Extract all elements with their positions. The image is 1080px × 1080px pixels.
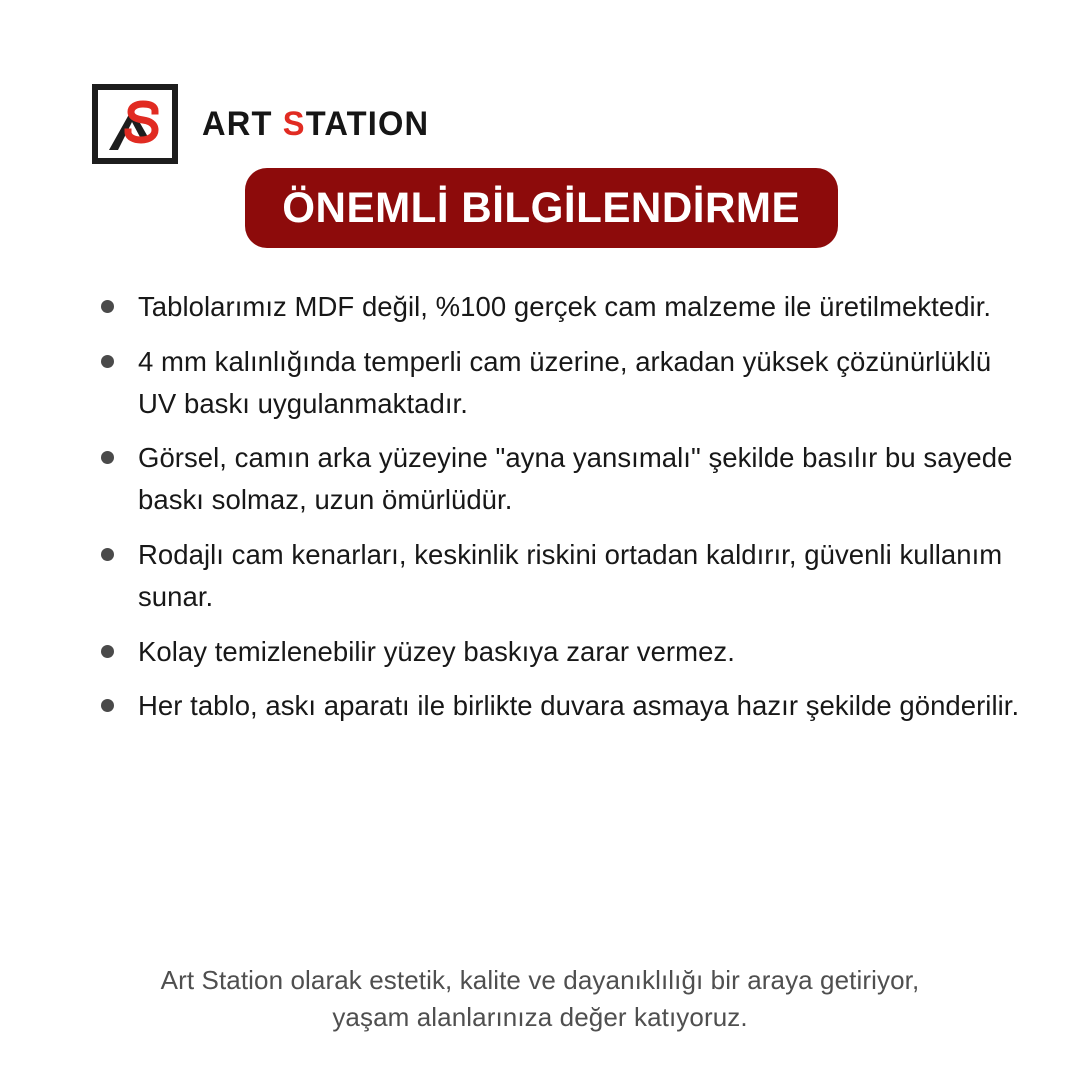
as-monogram-icon [92,84,178,164]
list-item: Her tablo, askı aparatı ile birlikte duv… [96,685,1036,727]
list-item: Rodajlı cam kenarları, keskinlik riskini… [96,534,1036,618]
list-item: Görsel, camın arka yüzeyine "ayna yansım… [96,437,1036,521]
list-item: Kolay temizlenebilir yüzey baskıya zarar… [96,631,1036,673]
list-item: 4 mm kalınlığında temperli cam üzerine, … [96,341,1036,425]
bullet-dot-icon [101,548,114,561]
list-item-text: 4 mm kalınlığında temperli cam üzerine, … [138,341,1036,425]
list-item-text: Tablolarımız MDF değil, %100 gerçek cam … [138,286,1036,328]
list-item-text: Kolay temizlenebilir yüzey baskıya zarar… [138,631,1036,673]
list-item-text: Görsel, camın arka yüzeyine "ayna yansım… [138,437,1036,521]
footer-line-1: Art Station olarak estetik, kalite ve da… [0,962,1080,999]
brand-wordmark: ART STATION [202,107,429,141]
bullet-dot-icon [101,355,114,368]
list-item: Tablolarımız MDF değil, %100 gerçek cam … [96,286,1036,328]
list-item-text: Her tablo, askı aparatı ile birlikte duv… [138,685,1036,727]
info-card-page: ART STATION ÖNEMLİ BİLGİLENDİRME Tablola… [0,0,1080,1080]
info-bullet-list: Tablolarımız MDF değil, %100 gerçek cam … [96,286,1036,740]
bullet-dot-icon [101,699,114,712]
wordmark-accent-s: S [283,105,306,143]
banner-title: ÖNEMLİ BİLGİLENDİRME [283,187,801,230]
wordmark-tation: TATION [306,105,430,143]
list-item-text: Rodajlı cam kenarları, keskinlik riskini… [138,534,1036,618]
footer-line-2: yaşam alanlarınıza değer katıyoruz. [0,999,1080,1036]
bullet-dot-icon [101,451,114,464]
banner: ÖNEMLİ BİLGİLENDİRME [245,168,838,248]
footer-tagline: Art Station olarak estetik, kalite ve da… [0,962,1080,1036]
bullet-dot-icon [101,300,114,313]
bullet-dot-icon [101,645,114,658]
wordmark-art: ART [202,105,283,143]
brand-header: ART STATION [92,84,439,164]
